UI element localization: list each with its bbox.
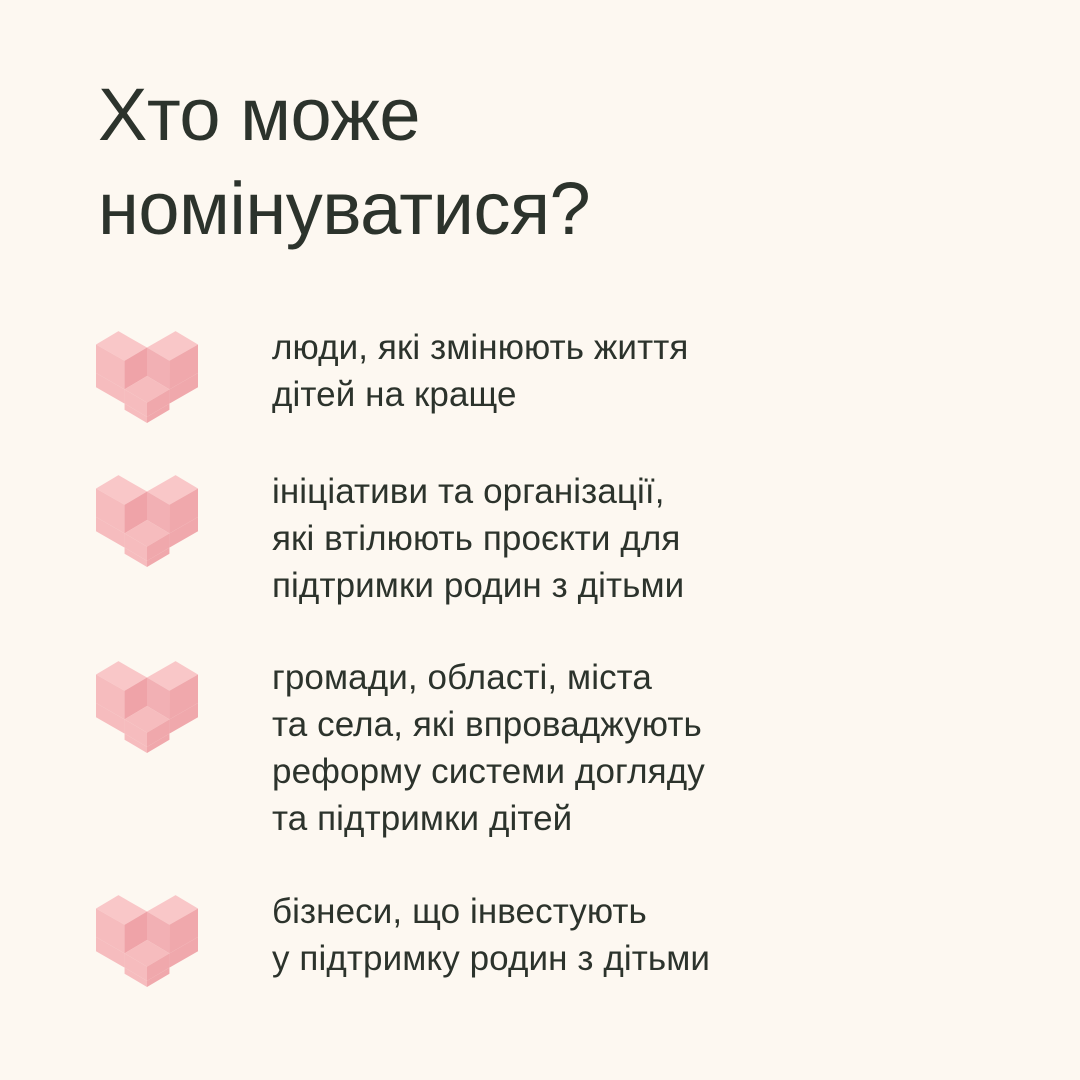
list-item-line: дітей на краще xyxy=(272,371,1080,418)
list-item-line: які втілюють проєкти для xyxy=(272,515,1080,562)
list-item: бізнеси, що інвестують у підтримку родин… xyxy=(0,882,1080,988)
list-item-line: реформу системи догляду xyxy=(272,748,1080,795)
isometric-heart-icon xyxy=(96,466,198,568)
page-title-line-1: Хто може xyxy=(98,68,918,162)
list-item-line: підтримки родин з дітьми xyxy=(272,562,1080,609)
poster-canvas: Хто може номінуватися? xyxy=(0,0,1080,1080)
list-item-text: люди, які змінюють життя дітей на краще xyxy=(272,318,1080,418)
page-title-line-2: номінуватися? xyxy=(98,162,918,256)
list-item-line: та підтримки дітей xyxy=(272,795,1080,842)
list-item-line: у підтримку родин з дітьми xyxy=(272,935,1080,982)
isometric-heart-icon xyxy=(96,322,198,424)
list-item-line: та села, які впроваджують xyxy=(272,701,1080,748)
list-item: громади, області, міста та села, які впр… xyxy=(0,648,1080,842)
list-item: люди, які змінюють життя дітей на краще xyxy=(0,318,1080,424)
list-item-line: люди, які змінюють життя xyxy=(272,324,1080,371)
list-item-text: ініціативи та організації, які втілюють … xyxy=(272,462,1080,609)
list-item-text: громади, області, міста та села, які впр… xyxy=(272,648,1080,842)
isometric-heart-icon xyxy=(96,652,198,754)
list-item-line: ініціативи та організації, xyxy=(272,468,1080,515)
list-item: ініціативи та організації, які втілюють … xyxy=(0,462,1080,609)
list-item-line: бізнеси, що інвестують xyxy=(272,888,1080,935)
list-item-line: громади, області, міста xyxy=(272,654,1080,701)
list-item-text: бізнеси, що інвестують у підтримку родин… xyxy=(272,882,1080,982)
isometric-heart-icon xyxy=(96,886,198,988)
page-title: Хто може номінуватися? xyxy=(98,68,918,256)
eligibility-list: люди, які змінюють життя дітей на краще xyxy=(0,318,1080,988)
